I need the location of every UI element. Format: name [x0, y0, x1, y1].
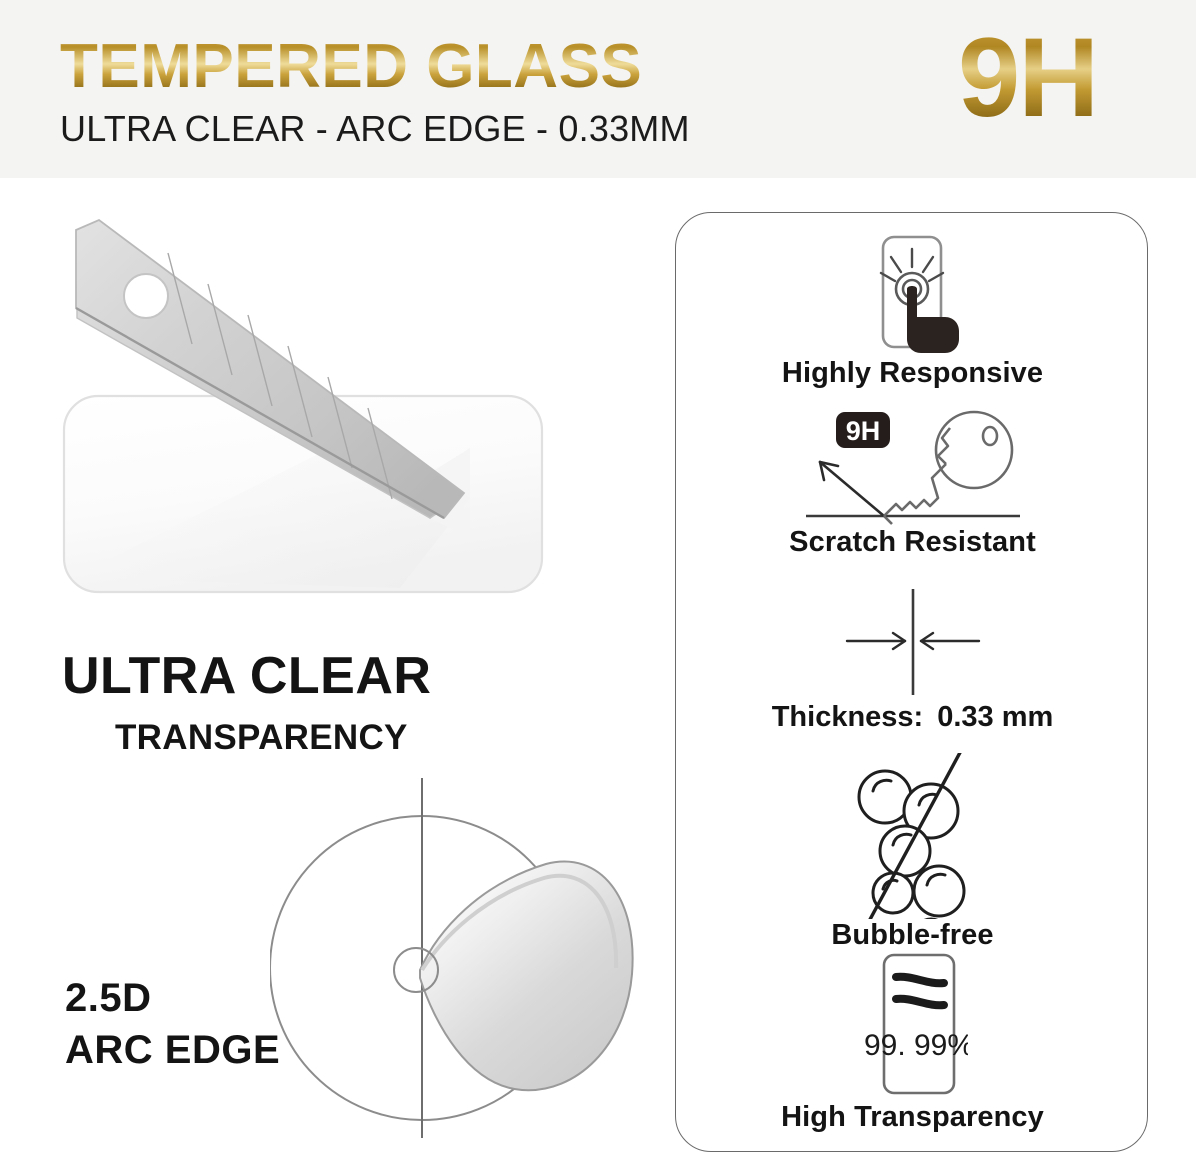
- page-title: TEMPERED GLASS: [60, 36, 642, 98]
- arc-edge-name-label: ARC EDGE: [65, 1028, 280, 1073]
- feature-label-scratch-resistant: Scratch Resistant: [676, 526, 1149, 559]
- bubbles-crossed-icon: [823, 753, 1003, 919]
- feature-bubble-free: Bubble-free: [676, 753, 1149, 952]
- feature-label-bubble-free: Bubble-free: [676, 919, 1149, 952]
- transparency-screen-value: 99. 99%: [863, 1029, 967, 1062]
- thickness-arrows-icon: [823, 583, 1003, 701]
- feature-label-high-transparency: High Transparency: [676, 1101, 1149, 1134]
- left-panel: ULTRA CLEAR TRANSPARENCY: [0, 178, 670, 1161]
- svg-text:9H: 9H: [845, 416, 880, 446]
- transparency-phone-icon: 99. 99%: [858, 951, 968, 1101]
- transparency-subheading: TRANSPARENCY: [115, 718, 408, 758]
- feature-label-thickness-value: 0.33 mm: [937, 701, 1053, 733]
- feature-highly-responsive: Highly Responsive: [676, 231, 1149, 390]
- product-infographic: TEMPERED GLASS ULTRA CLEAR - ARC EDGE - …: [0, 0, 1196, 1161]
- page-subtitle: ULTRA CLEAR - ARC EDGE - 0.33MM: [60, 108, 690, 150]
- touch-phone-icon: [849, 231, 977, 357]
- feature-label-highly-responsive: Highly Responsive: [676, 357, 1149, 390]
- arc-edge-value-label: 2.5D: [65, 976, 152, 1021]
- hardness-badge-9h: 9H: [958, 22, 1097, 134]
- feature-label-thickness-prefix: Thickness:: [772, 701, 924, 733]
- badge-9h-icon: 9H: [836, 412, 890, 448]
- feature-thickness: Thickness:0.33 mm: [676, 583, 1149, 734]
- feature-high-transparency: 99. 99% High Transparency: [676, 951, 1149, 1134]
- feature-scratch-resistant: 9H: [676, 406, 1149, 559]
- features-panel: Highly Responsive 9H: [675, 212, 1148, 1152]
- arc-edge-cross-section-illustration: [270, 778, 650, 1138]
- ultra-clear-heading: ULTRA CLEAR: [62, 646, 431, 706]
- utility-blade-over-tempered-glass-illustration: [40, 198, 640, 618]
- key-scratch-icon: 9H: [798, 406, 1028, 526]
